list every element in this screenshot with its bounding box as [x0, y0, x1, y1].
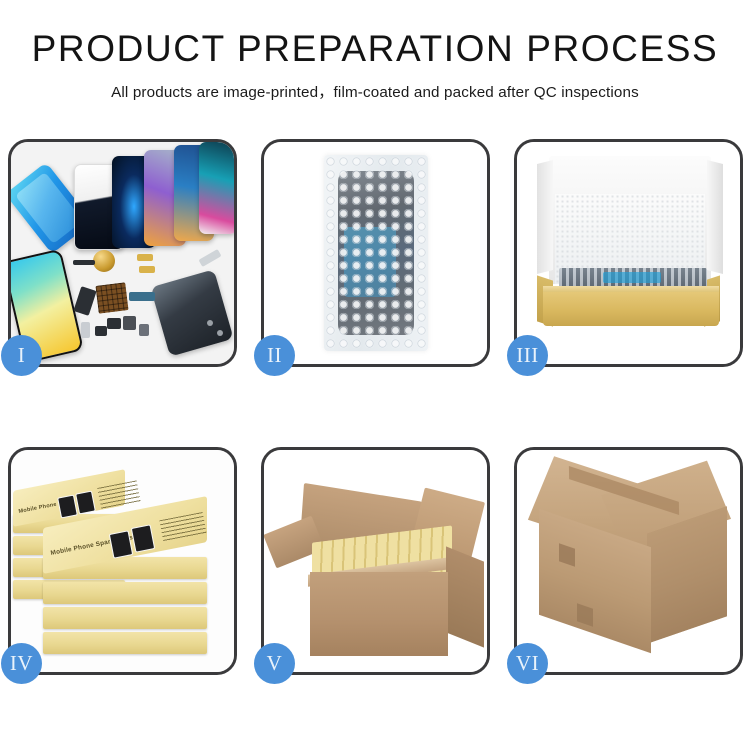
carton-packing-illustration [264, 450, 487, 672]
step-panel-sealed-carton[interactable]: VI [514, 447, 743, 675]
small-part-icon [81, 322, 90, 338]
step-badge-2: II [254, 335, 295, 376]
labeled-boxes-illustration: Mobile Phone Spare Parts Mobile Phone Sp… [11, 450, 234, 672]
process-steps-grid: I II III [8, 139, 742, 675]
page-title: PRODUCT PREPARATION PROCESS [0, 30, 750, 67]
speaker-coil-icon [93, 250, 115, 272]
inner-box-illustration [517, 142, 740, 364]
header: PRODUCT PREPARATION PROCESS All products… [0, 0, 750, 102]
sealed-carton-illustration [517, 450, 740, 672]
small-part-icon [95, 326, 107, 336]
bubble-bag [324, 155, 428, 351]
phone-parts-illustration [11, 142, 234, 364]
small-part-icon [137, 254, 153, 261]
small-part-icon [139, 266, 155, 273]
stacked-box-top-front: Mobile Phone Spare Parts [43, 512, 207, 558]
small-part-icon [123, 316, 136, 330]
screw-icon [207, 320, 213, 326]
curved-display-icon [199, 142, 234, 234]
bubble-wrap-illustration [264, 142, 487, 364]
step-panel-carton-packing[interactable]: V [261, 447, 490, 675]
step-badge-5: V [254, 643, 295, 684]
step-panel-inner-box[interactable]: III [514, 139, 743, 367]
stacked-box-top-rear: Mobile Phone Spare Parts [13, 480, 125, 516]
step-badge-3: III [507, 335, 548, 376]
screw-icon [217, 330, 223, 336]
box-front-wall [543, 292, 719, 326]
chip-icon [95, 282, 128, 313]
step-panel-bubble-wrap[interactable]: II [261, 139, 490, 367]
small-part-icon [73, 260, 95, 265]
flex-cable-icon [129, 292, 155, 301]
step-badge-4: IV [1, 643, 42, 684]
step-panel-phone-parts[interactable]: I [8, 139, 237, 367]
bubble-highlights [324, 155, 428, 351]
tweezers-icon [198, 249, 221, 267]
flex-cable-icon [73, 286, 96, 316]
carton-side-face [446, 546, 484, 647]
box-stack: Mobile Phone Spare Parts Mobile Phone Sp… [13, 460, 234, 668]
step-badge-1: I [1, 335, 42, 376]
stacked-box [43, 632, 207, 654]
page-subtitle: All products are image-printed，film-coat… [0, 80, 750, 102]
carton-front-face [310, 572, 448, 656]
small-part-icon [107, 318, 121, 329]
page-root: PRODUCT PREPARATION PROCESS All products… [0, 0, 750, 750]
small-part-icon [139, 324, 149, 336]
stacked-box [43, 607, 207, 629]
step-badge-6: VI [507, 643, 548, 684]
step-panel-labeled-boxes[interactable]: Mobile Phone Spare Parts Mobile Phone Sp… [8, 447, 237, 675]
back-housing-icon [150, 269, 233, 356]
stacked-box [43, 582, 207, 604]
